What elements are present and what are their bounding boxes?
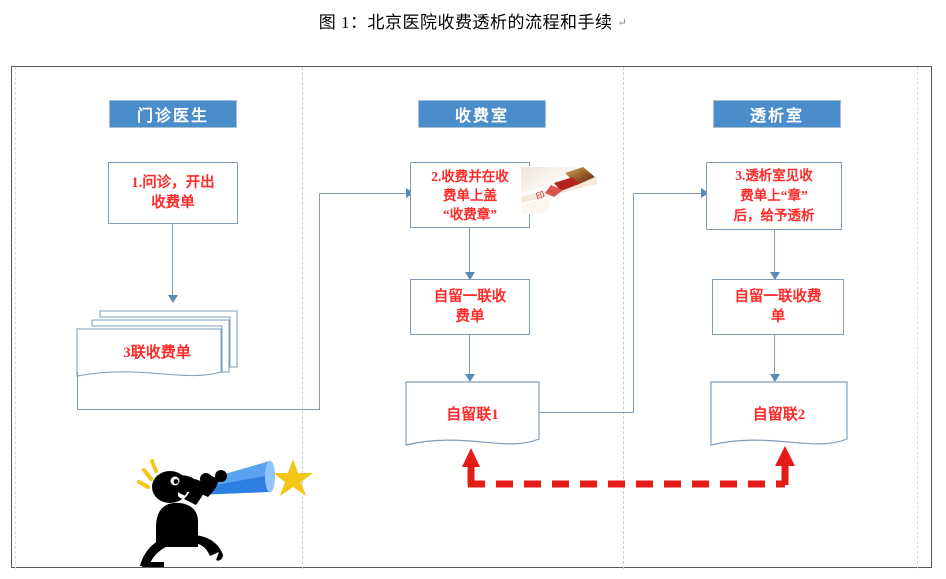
- stick-figure-telescope-clipart: [122, 435, 322, 567]
- page-title-text: 图 1：北京医院收费透析的流程和手续: [319, 13, 613, 32]
- page-title: 图 1：北京医院收费透析的流程和手续↵: [0, 8, 946, 33]
- star-icon: [273, 459, 313, 496]
- paragraph-mark-icon: ↵: [618, 17, 628, 29]
- flowchart-frame: 门诊医生 收费室 透析室 1.问诊，开出 收费单 3联收费单 2.收费并在收 费…: [11, 66, 932, 568]
- figure-icon: [140, 470, 227, 567]
